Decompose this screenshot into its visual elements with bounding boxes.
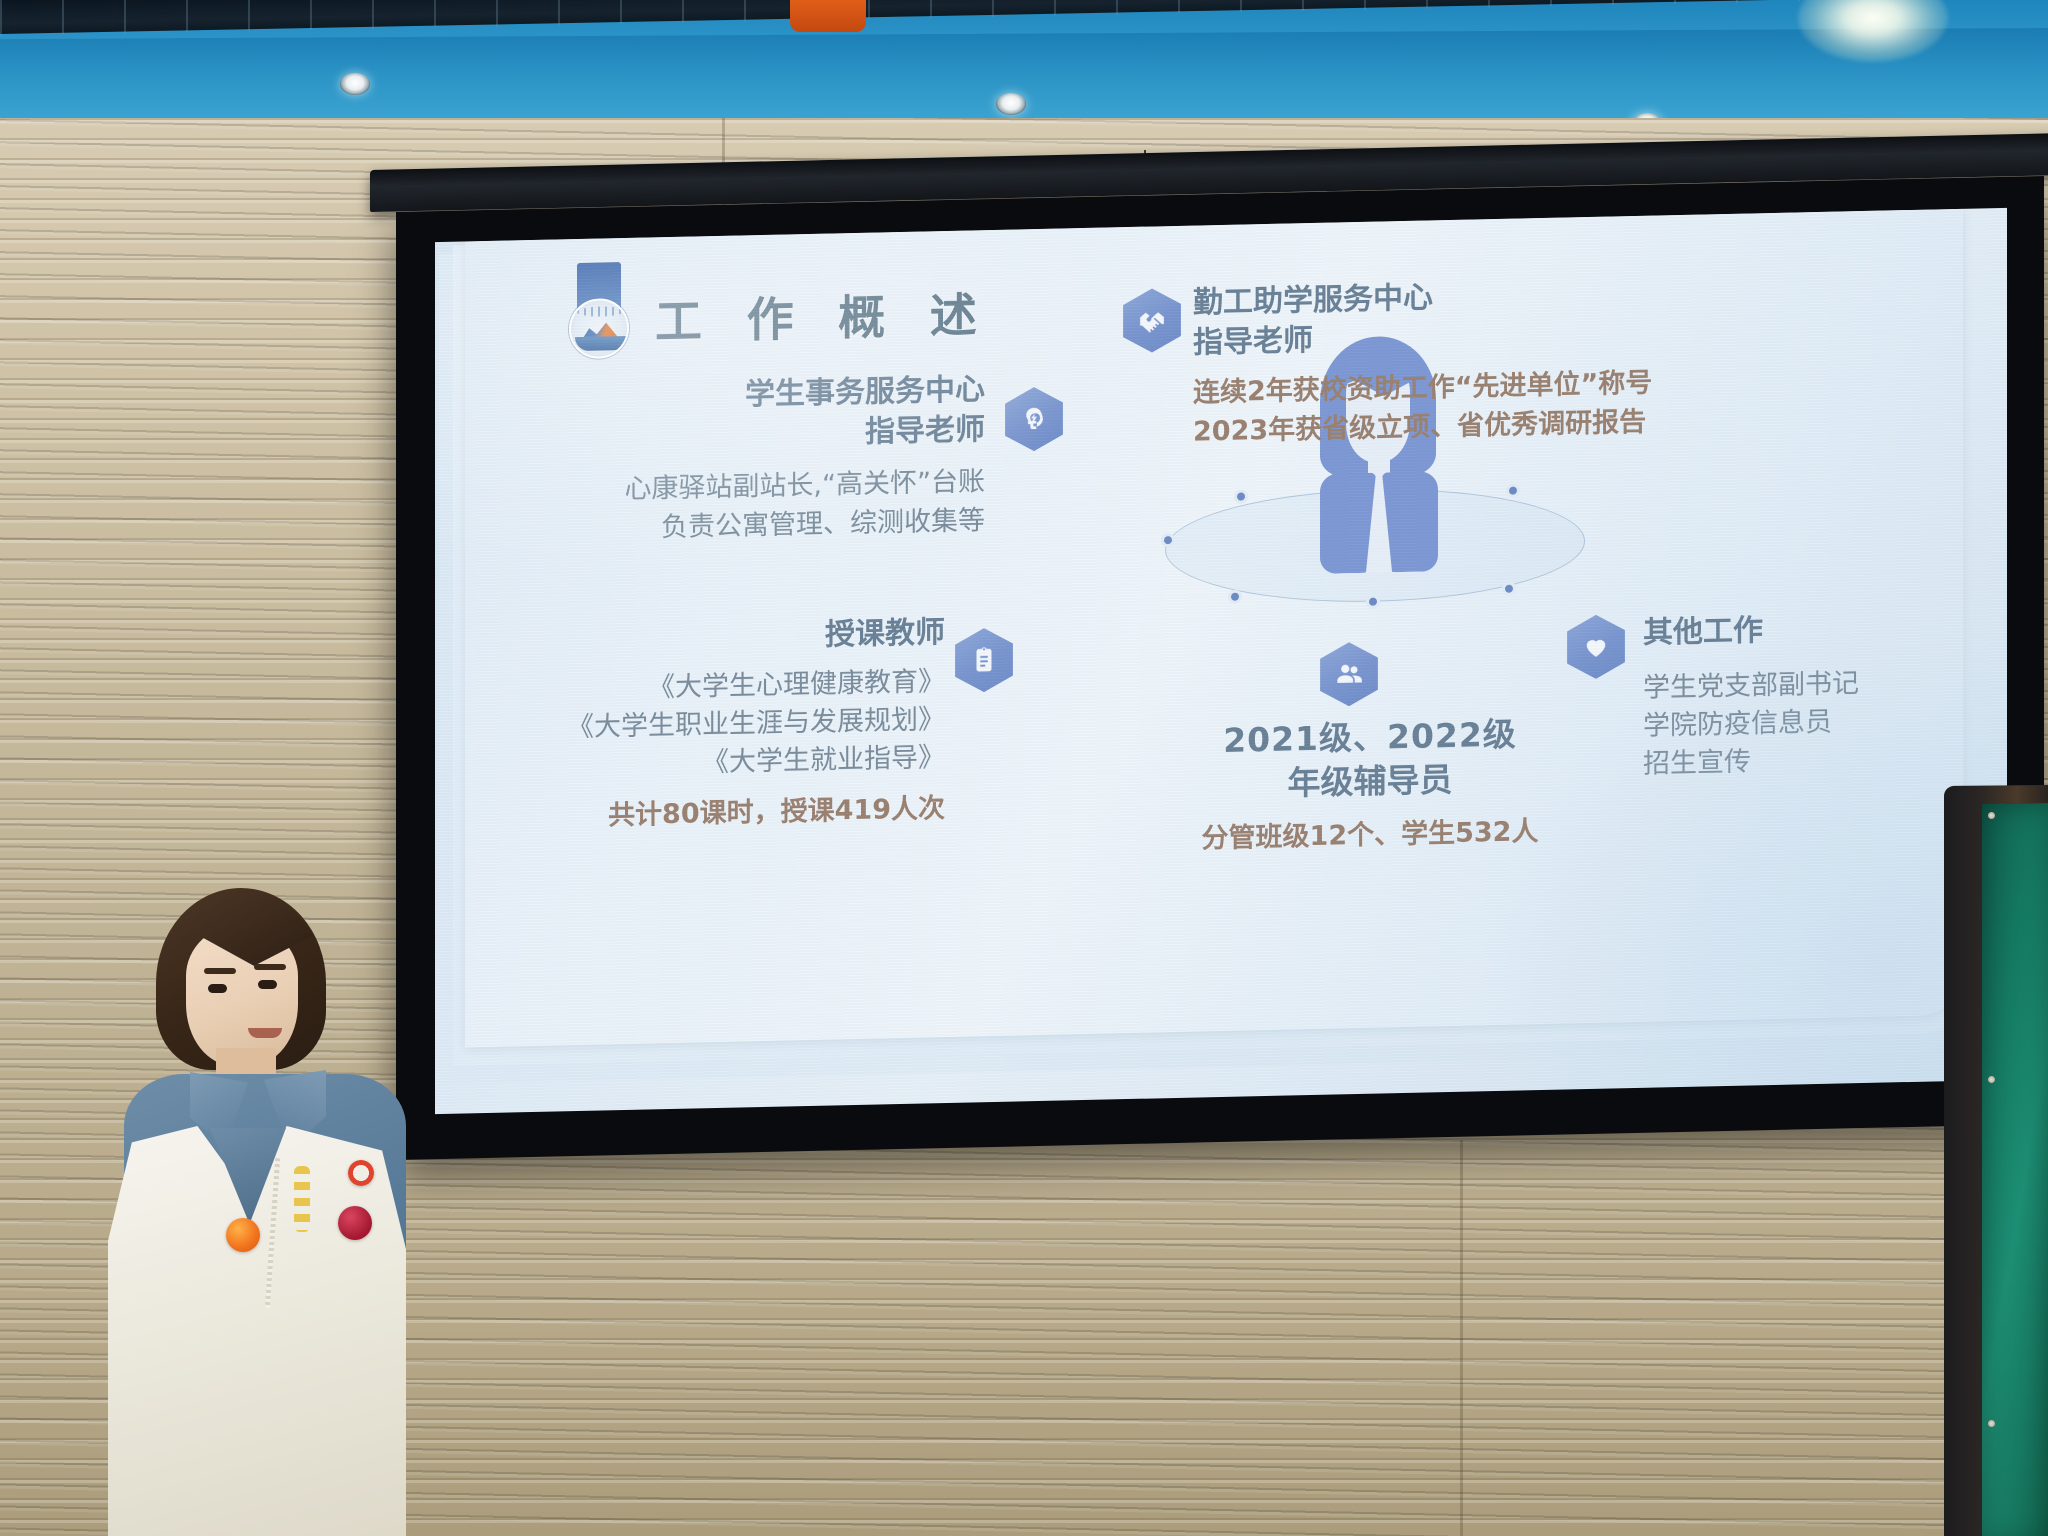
brain-head-icon — [1005, 386, 1063, 451]
orbit-dot — [1502, 582, 1516, 596]
orbit-dot — [1234, 489, 1248, 503]
board-screw — [1988, 1420, 1995, 1427]
users-icon — [1320, 642, 1378, 707]
block-highlight-line: 共计80课时，授课419人次 — [495, 790, 945, 838]
orange-sign — [790, 0, 866, 32]
block-highlight-line: 分管班级12个、学生532人 — [1125, 811, 1615, 860]
smiley-pin-icon — [226, 1218, 260, 1252]
projector-screen-frame: 工 作 概 述 — [396, 176, 2044, 1160]
page-title: 工 作 概 述 — [655, 276, 991, 352]
downlight-icon — [340, 73, 370, 95]
block-heading-line: 授课教师 — [495, 613, 945, 662]
presenter-person — [98, 888, 428, 1536]
block-heading-line: 年级辅导员 — [1125, 754, 1615, 808]
block-work-study-center: 勤工助学服务中心 指导老师 连续2年获校资助工作“先进单位”称号 2023年获省… — [1193, 268, 1893, 451]
orbit-dot — [1228, 590, 1242, 604]
block-grade-counselor: 2021级、2022级 年级辅导员 分管班级12个、学生532人 — [1125, 710, 1615, 860]
block-other-work: 其他工作 学生党支部副书记 学院防疫信息员 招生宣传 — [1643, 605, 2007, 785]
block-body-line: 负责公寓管理、综测收集等 — [545, 502, 985, 550]
block-heading-line: 指导老师 — [545, 410, 985, 459]
classroom-scene: 工 作 概 述 — [0, 0, 2048, 1536]
block-teaching: 授课教师 《大学生心理健康教育》 《大学生职业生涯与发展规划》 《大学生就业指导… — [495, 613, 945, 838]
red-pin-icon — [338, 1206, 372, 1240]
board-screw — [1988, 1076, 1995, 1083]
block-body-line: 招生宣传 — [1643, 737, 2007, 784]
downlight-icon — [996, 93, 1026, 115]
clipboard-icon — [955, 628, 1013, 693]
ring-pin-icon — [348, 1160, 374, 1186]
slide-card-front: 工 作 概 述 — [465, 209, 1963, 1048]
block-heading-line: 其他工作 — [1643, 605, 2007, 654]
board-screw — [1988, 812, 1995, 819]
block-student-affairs: 学生事务服务中心 指导老师 心康驿站副站长,“高关怀”台账 负责公寓管理、综测收… — [545, 370, 985, 549]
heart-icon — [1567, 614, 1625, 679]
orbit-dot — [1366, 595, 1380, 609]
projected-slide: 工 作 概 述 — [435, 208, 2007, 1114]
handshake-icon — [1123, 288, 1181, 353]
wall-seam — [1460, 1140, 1463, 1536]
orbit-dot — [1161, 533, 1175, 547]
orbit-dot — [1506, 483, 1520, 497]
school-emblem-icon — [569, 262, 629, 367]
